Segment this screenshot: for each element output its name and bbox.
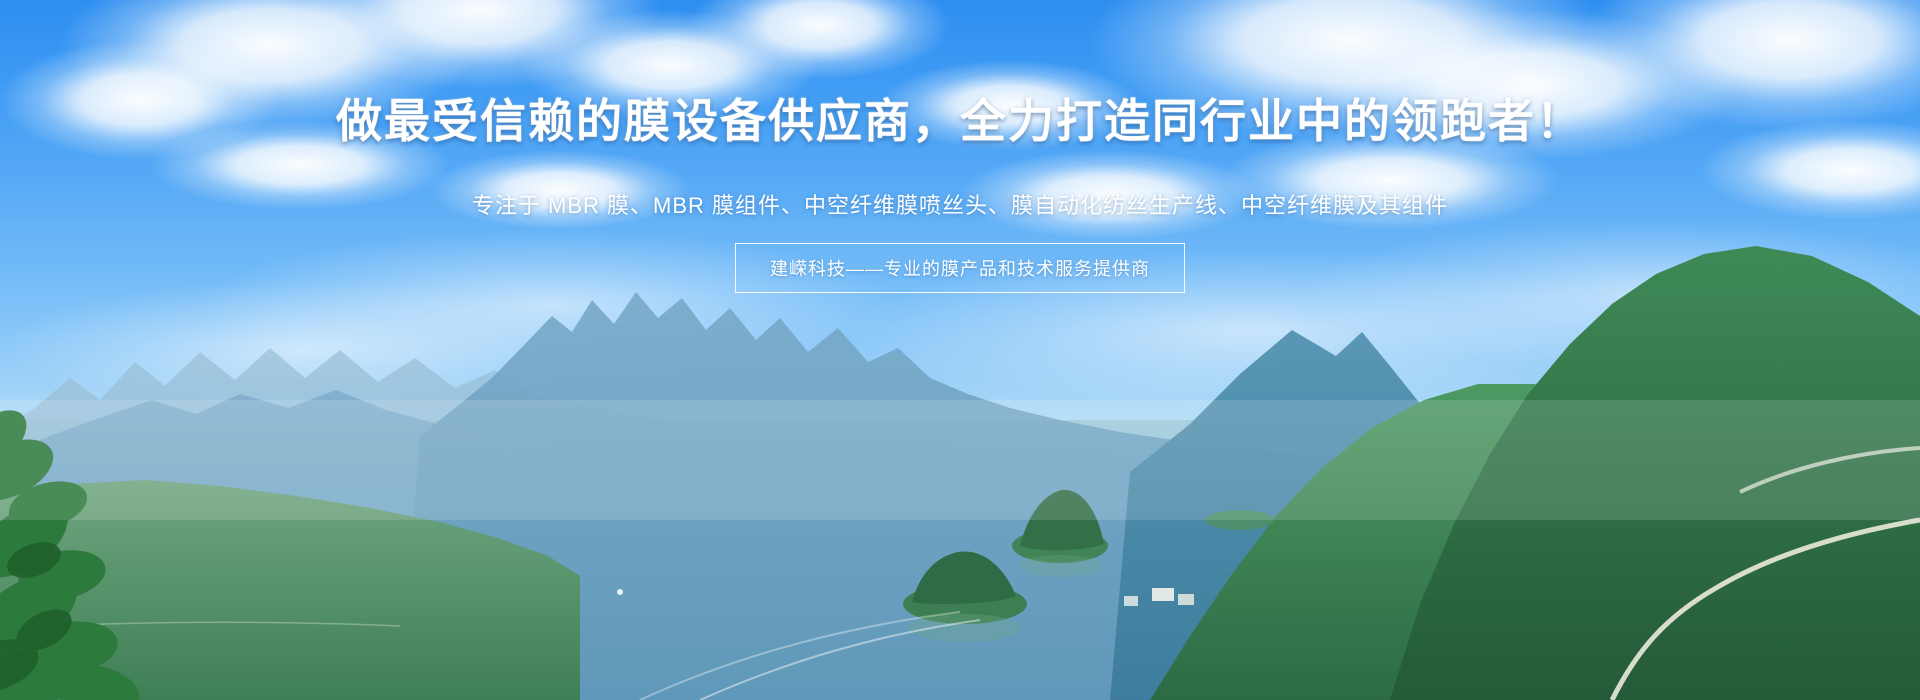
banner-subline: 专注于 MBR 膜、MBR 膜组件、中空纤维膜喷丝头、膜自动化纺丝生产线、中空纤… — [0, 188, 1920, 220]
banner-headline: 做最受信赖的膜设备供应商，全力打造同行业中的领跑者！ — [0, 96, 1920, 148]
hero-banner: 做最受信赖的膜设备供应商，全力打造同行业中的领跑者！ 专注于 MBR 膜、MBR… — [0, 0, 1920, 700]
banner-tagline-wrap: 建嵘科技——专业的膜产品和技术服务提供商 — [0, 243, 1920, 293]
banner-tagline: 建嵘科技——专业的膜产品和技术服务提供商 — [735, 243, 1185, 293]
